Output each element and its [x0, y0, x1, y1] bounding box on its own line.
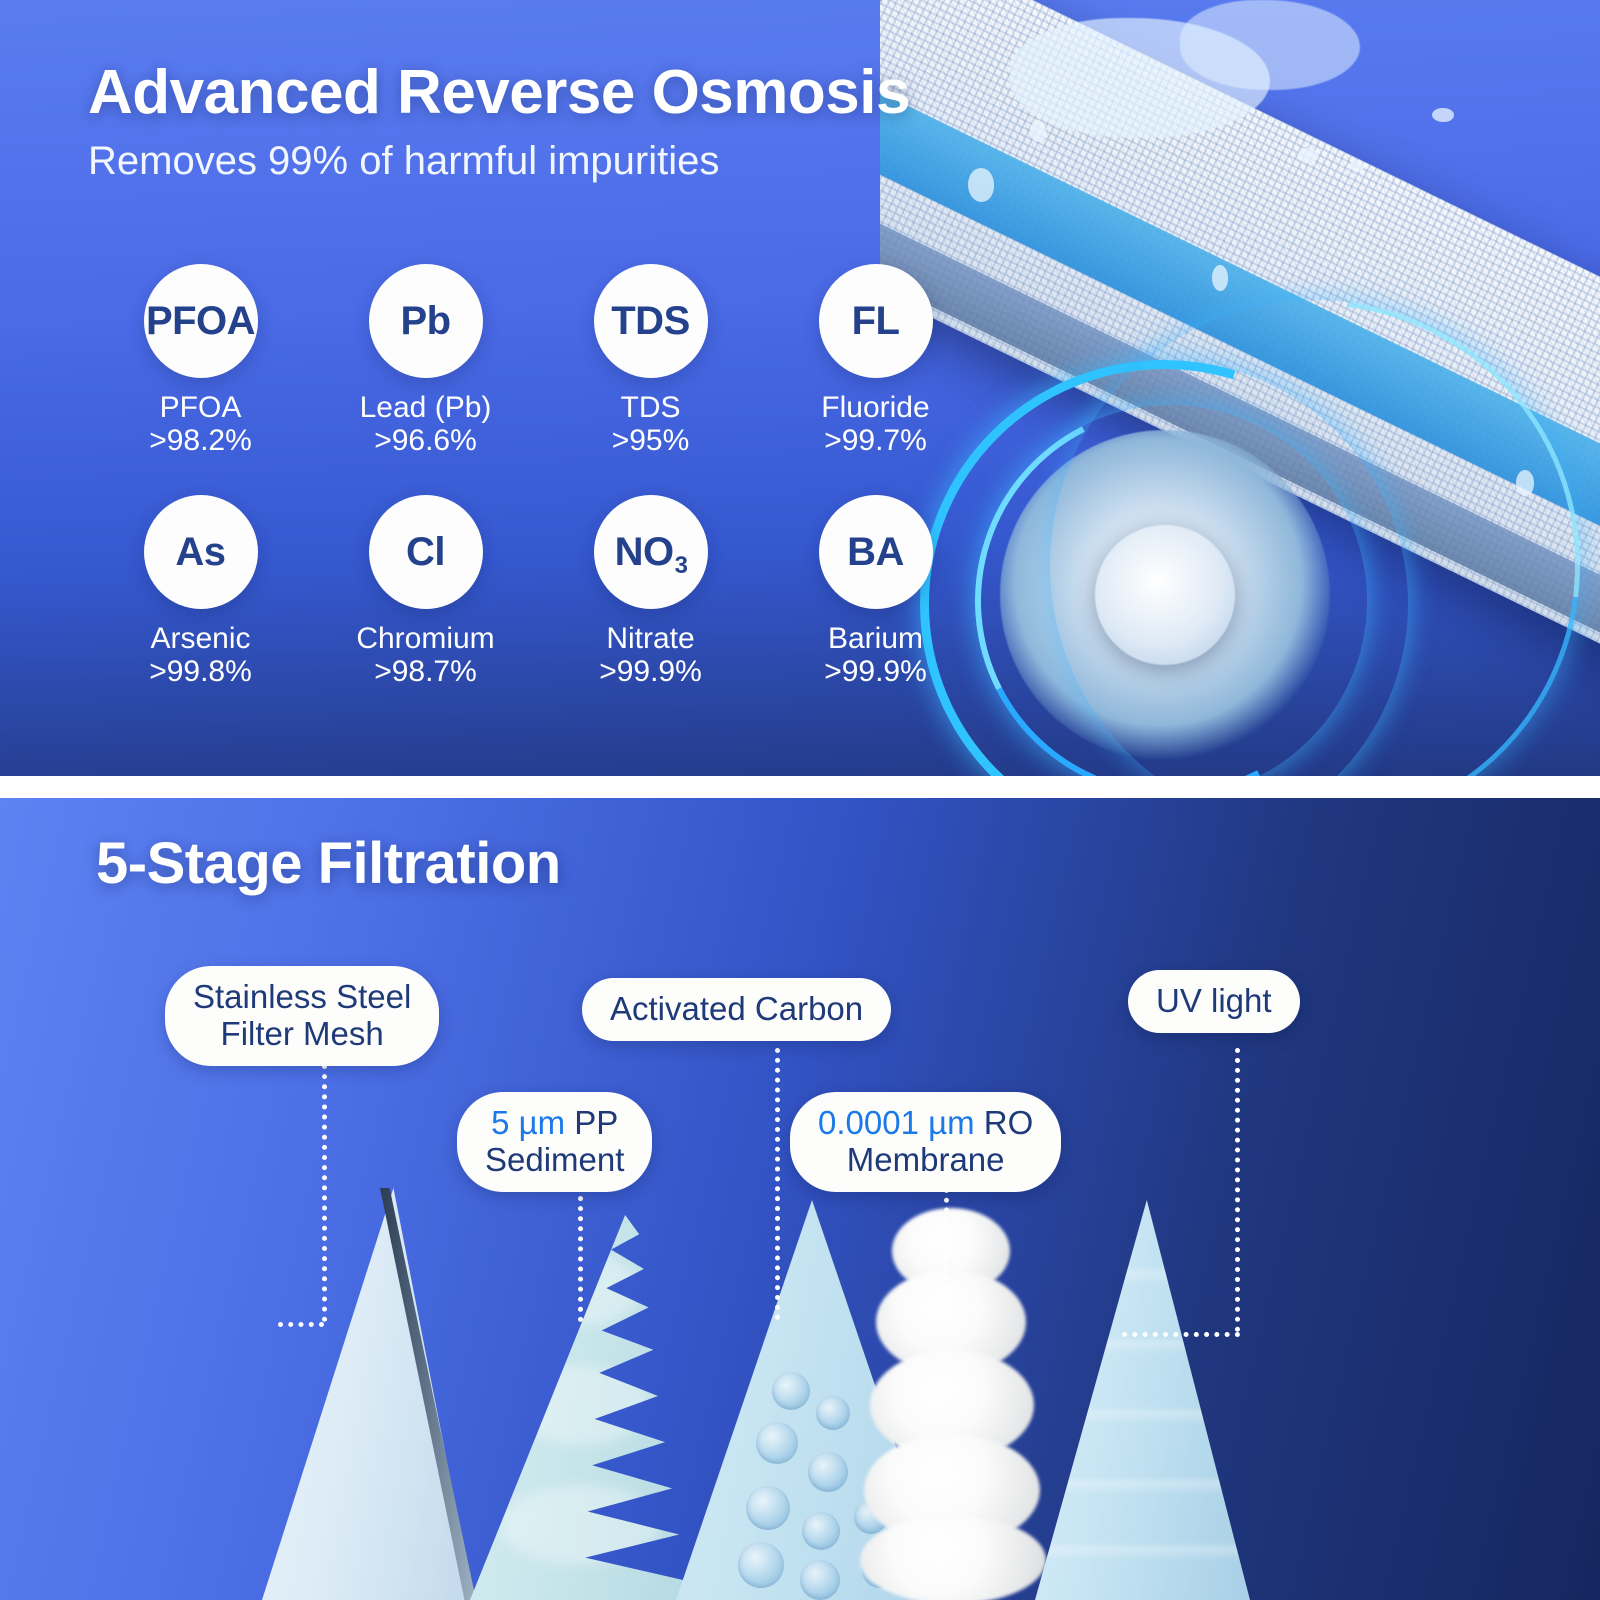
- badge-symbol: TDS: [611, 301, 690, 341]
- contaminant-badge-pfoa: PFOA PFOA >98.2%: [88, 264, 313, 459]
- ro-membrane-fiber-icon: [858, 1198, 1048, 1600]
- pill-unit: RO: [975, 1104, 1034, 1141]
- contaminant-badge-tds: TDS TDS >95%: [538, 264, 763, 459]
- badge-symbol: NO3: [615, 532, 687, 572]
- uv-light-cone-icon: [1035, 1200, 1250, 1600]
- badge-circle: Cl: [369, 495, 483, 609]
- bottom-panel-heading: 5-Stage Filtration: [96, 830, 561, 897]
- badge-circle: BA: [819, 495, 933, 609]
- badge-symbol: BA: [847, 532, 904, 572]
- leader-line-uv-light: [1235, 1048, 1240, 1332]
- badge-symbol: Cl: [406, 532, 445, 572]
- water-splash-icon: [1180, 0, 1360, 90]
- leader-line-stainless-steel: [322, 1064, 327, 1322]
- badge-removal-rate: >99.7%: [824, 424, 927, 459]
- badge-removal-rate: >95%: [612, 424, 690, 459]
- leader-line-activated-carbon: [775, 1048, 780, 1320]
- badge-removal-rate: >96.6%: [374, 424, 477, 459]
- five-stage-filtration-panel: 5-Stage Filtration: [0, 798, 1600, 1600]
- contaminant-row: PFOA PFOA >98.2% Pb Lead (Pb) >96.6% TDS: [88, 264, 988, 459]
- leader-line-pp-sediment: [578, 1186, 583, 1322]
- water-droplet-icon: [1350, 160, 1364, 172]
- badge-circle: Pb: [369, 264, 483, 378]
- badge-symbol-subscript: 3: [675, 552, 688, 579]
- leader-line-ro-membrane: [944, 1188, 949, 1320]
- stage-pill-stainless-steel-filter-mesh[interactable]: Stainless Steel Filter Mesh: [165, 966, 439, 1066]
- section-title: 5-Stage Filtration: [96, 830, 561, 897]
- water-droplet-icon: [1298, 148, 1318, 163]
- badge-name: PFOA: [160, 392, 242, 424]
- badge-circle: NO3: [594, 495, 708, 609]
- contaminant-row: As Arsenic >99.8% Cl Chromium >98.7% NO3: [88, 495, 988, 690]
- badge-removal-rate: >99.9%: [599, 655, 702, 690]
- pill-line-1: Activated Carbon: [610, 991, 863, 1028]
- badge-removal-rate: >99.9%: [824, 655, 927, 690]
- badge-circle: FL: [819, 264, 933, 378]
- contaminant-badge-chromium: Cl Chromium >98.7%: [313, 495, 538, 690]
- badge-symbol: As: [175, 532, 225, 572]
- stage-pill-uv-light[interactable]: UV light: [1128, 970, 1300, 1033]
- badge-symbol: Pb: [400, 301, 450, 341]
- badge-name: TDS: [621, 392, 681, 424]
- badge-symbol: FL: [852, 301, 900, 341]
- badge-name: Chromium: [356, 623, 494, 655]
- leader-elbow-stainless-steel: [278, 1322, 324, 1327]
- contaminant-grid: PFOA PFOA >98.2% Pb Lead (Pb) >96.6% TDS: [88, 264, 988, 690]
- pill-line-1: UV light: [1156, 983, 1272, 1020]
- badge-name: Nitrate: [606, 623, 694, 655]
- contaminant-badge-nitrate: NO3 Nitrate >99.9%: [538, 495, 763, 690]
- infographic-root: Advanced Reverse Osmosis Removes 99% of …: [0, 0, 1600, 1600]
- badge-removal-rate: >99.8%: [149, 655, 252, 690]
- badge-circle: As: [144, 495, 258, 609]
- badge-name: Lead (Pb): [360, 392, 492, 424]
- contaminant-badge-barium: BA Barium >99.9%: [763, 495, 988, 690]
- pill-line-1: Stainless Steel: [193, 979, 411, 1016]
- pill-line-2: Sediment: [485, 1142, 624, 1179]
- badge-name: Arsenic: [150, 623, 250, 655]
- water-droplet-icon: [1516, 470, 1534, 496]
- pill-value: 0.0001 µm: [818, 1104, 975, 1141]
- water-droplet-icon: [1432, 108, 1454, 122]
- stainless-steel-cone-icon: [262, 1188, 474, 1600]
- badge-symbol: PFOA: [146, 301, 255, 341]
- contaminant-badge-lead: Pb Lead (Pb) >96.6%: [313, 264, 538, 459]
- pill-line-1: 5 µm PP: [485, 1105, 624, 1142]
- pp-sediment-cone-icon: [470, 1215, 705, 1600]
- pill-line-1: 0.0001 µm RO: [818, 1105, 1033, 1142]
- pill-unit: PP: [565, 1104, 618, 1141]
- badge-circle: TDS: [594, 264, 708, 378]
- pill-line-2: Membrane: [818, 1142, 1033, 1179]
- leader-elbow-uv-light: [1122, 1332, 1240, 1337]
- filter-stage-illustration: [0, 1170, 1600, 1600]
- badge-circle: PFOA: [144, 264, 258, 378]
- advanced-reverse-osmosis-panel: Advanced Reverse Osmosis Removes 99% of …: [0, 0, 1600, 790]
- pill-value: 5 µm: [491, 1104, 565, 1141]
- contaminant-badge-arsenic: As Arsenic >99.8%: [88, 495, 313, 690]
- contaminant-badge-fluoride: FL Fluoride >99.7%: [763, 264, 988, 459]
- stage-pill-activated-carbon[interactable]: Activated Carbon: [582, 978, 891, 1041]
- badge-name: Barium: [828, 623, 923, 655]
- badge-name: Fluoride: [821, 392, 929, 424]
- water-droplet-icon: [1212, 265, 1228, 291]
- badge-removal-rate: >98.2%: [149, 424, 252, 459]
- badge-removal-rate: >98.7%: [374, 655, 477, 690]
- pill-line-2: Filter Mesh: [193, 1016, 411, 1053]
- panel-divider: [0, 776, 1600, 798]
- page-subtitle: Removes 99% of harmful impurities: [88, 139, 1098, 183]
- top-panel-heading: Advanced Reverse Osmosis Removes 99% of …: [88, 60, 1098, 183]
- stage-pill-pp-sediment[interactable]: 5 µm PP Sediment: [457, 1092, 652, 1192]
- stage-pill-ro-membrane[interactable]: 0.0001 µm RO Membrane: [790, 1092, 1061, 1192]
- page-title: Advanced Reverse Osmosis: [88, 60, 1098, 125]
